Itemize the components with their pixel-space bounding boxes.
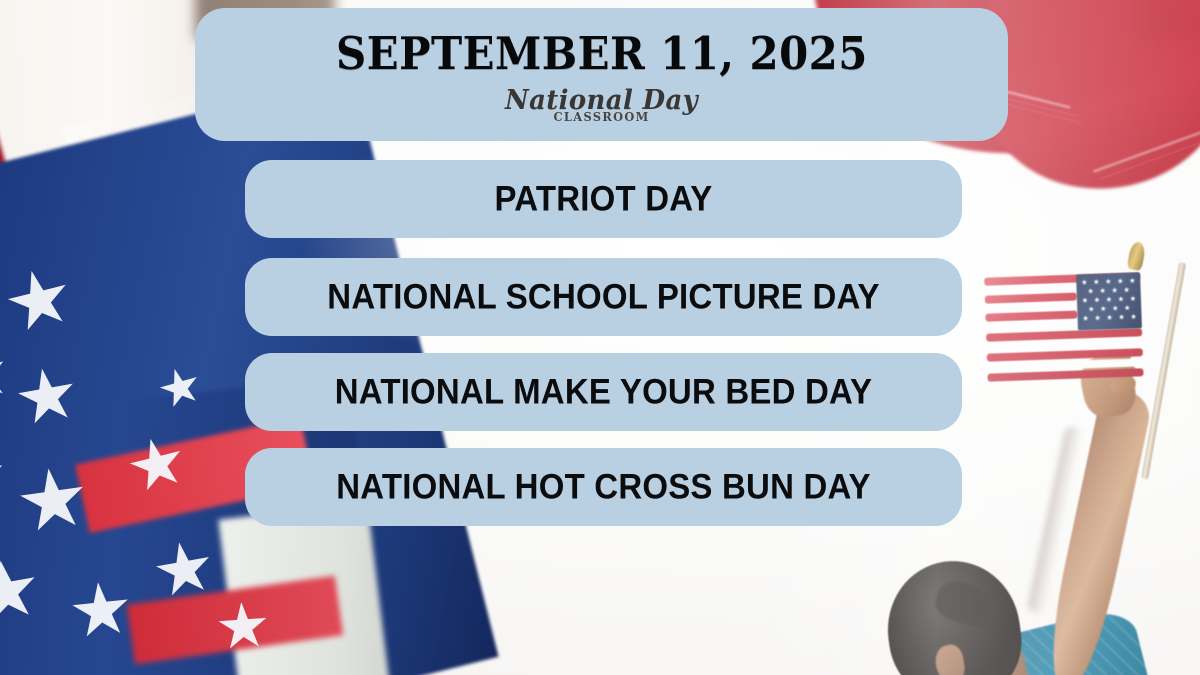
brand-logo: National Day CLASSROOM [501,87,702,123]
day-card-2[interactable]: NATIONAL SCHOOL PICTURE DAY [245,258,962,336]
content-overlay: SEPTEMBER 11, 2025 National Day CLASSROO… [0,0,1200,675]
day-card-1[interactable]: PATRIOT DAY [245,160,962,238]
day-card-4[interactable]: NATIONAL HOT CROSS BUN DAY [245,448,962,526]
day-label: PATRIOT DAY [495,179,713,219]
day-label: NATIONAL MAKE YOUR BED DAY [335,372,873,412]
day-label: NATIONAL HOT CROSS BUN DAY [336,467,870,507]
page-title-date: SEPTEMBER 11, 2025 [336,31,868,76]
day-card-3[interactable]: NATIONAL MAKE YOUR BED DAY [245,353,962,431]
logo-secondary-text: CLASSROOM [553,111,649,123]
poster: SEPTEMBER 11, 2025 National Day CLASSROO… [0,0,1200,675]
header-card: SEPTEMBER 11, 2025 National Day CLASSROO… [195,8,1008,141]
day-label: NATIONAL SCHOOL PICTURE DAY [327,277,879,317]
